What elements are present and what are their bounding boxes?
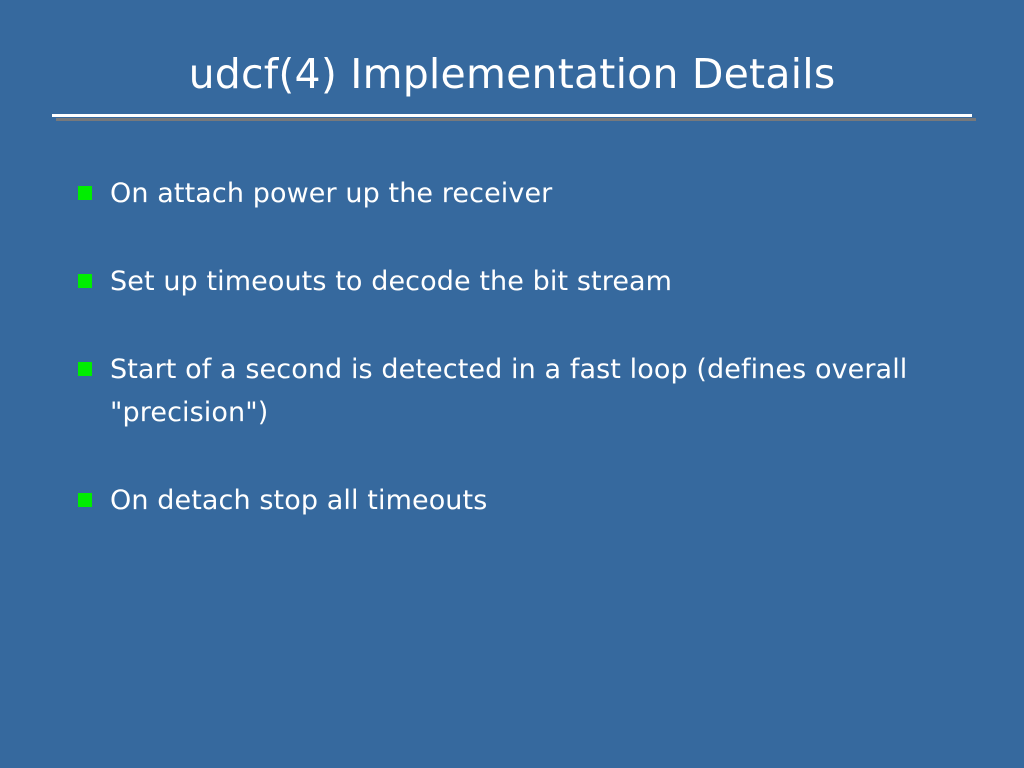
title-divider-rule [52, 114, 972, 117]
square-bullet-icon [78, 274, 92, 288]
list-item: On detach stop all timeouts [78, 479, 978, 522]
list-item-label: Start of a second is detected in a fast … [110, 348, 978, 434]
title-divider-rule-shadow [56, 118, 976, 121]
square-bullet-icon [78, 493, 92, 507]
list-item-label: Set up timeouts to decode the bit stream [110, 260, 978, 303]
list-item-label: On detach stop all timeouts [110, 479, 978, 522]
list-item-label: On attach power up the receiver [110, 172, 978, 215]
slide-title-block: udcf(4) Implementation Details [0, 48, 1024, 100]
list-item: Set up timeouts to decode the bit stream [78, 260, 978, 303]
square-bullet-icon [78, 362, 92, 376]
square-bullet-icon [78, 186, 92, 200]
list-item: On attach power up the receiver [78, 172, 978, 215]
bullet-list: On attach power up the receiver Set up t… [78, 172, 978, 567]
presentation-slide: udcf(4) Implementation Details On attach… [0, 0, 1024, 768]
page-title: udcf(4) Implementation Details [0, 48, 1024, 100]
list-item: Start of a second is detected in a fast … [78, 348, 978, 434]
